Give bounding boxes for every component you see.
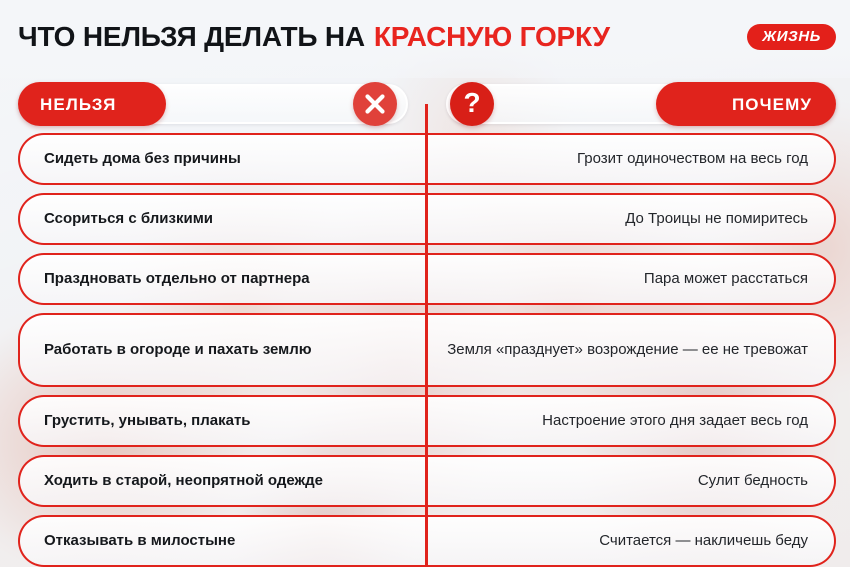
prohibition-cell: Отказывать в милостыне xyxy=(18,515,428,567)
prohibition-text: Праздновать отдельно от партнера xyxy=(44,270,310,288)
question-mark-glyph: ? xyxy=(463,89,480,117)
page-title-accent: КРАСНУЮ ГОРКУ xyxy=(374,21,610,53)
reason-cell: Настроение этого дня задает весь год xyxy=(428,395,836,447)
prohibition-text: Ходить в старой, неопрятной одежде xyxy=(44,472,323,490)
reason-cell: До Троицы не помиритесь xyxy=(428,193,836,245)
reason-cell: Пара может расстаться xyxy=(428,253,836,305)
prohibition-text: Ссориться с близкими xyxy=(44,210,213,228)
prohibition-cell: Работать в огороде и пахать землю xyxy=(18,313,428,387)
page-title: ЧТО НЕЛЬЗЯ ДЕЛАТЬ НА КРАСНУЮ ГОРКУ xyxy=(18,21,610,53)
column-header-reason: ПОЧЕМУ xyxy=(656,82,836,126)
prohibition-text: Грустить, унывать, плакать xyxy=(44,412,251,430)
reason-text: Пара может расстаться xyxy=(644,269,808,289)
question-mark-icon: ? xyxy=(450,82,494,126)
column-header-reason-label: ПОЧЕМУ xyxy=(732,96,812,113)
prohibition-cell: Ссориться с близкими xyxy=(18,193,428,245)
column-header-forbidden: НЕЛЬЗЯ xyxy=(18,82,166,126)
prohibition-cell: Ходить в старой, неопрятной одежде xyxy=(18,455,428,507)
infographic-sheet: ЧТО НЕЛЬЗЯ ДЕЛАТЬ НА КРАСНУЮ ГОРКУ ЖИЗНЬ… xyxy=(0,0,850,567)
reason-text: Считается — накличешь беду xyxy=(599,531,808,551)
reason-text: Земля «празднует» возрождение — ее не тр… xyxy=(447,340,808,360)
column-header-forbidden-label: НЕЛЬЗЯ xyxy=(40,96,116,113)
reason-cell: Считается — накличешь беду xyxy=(428,515,836,567)
title-bar: ЧТО НЕЛЬЗЯ ДЕЛАТЬ НА КРАСНУЮ ГОРКУ ЖИЗНЬ xyxy=(18,17,836,57)
brand-logo: ЖИЗНЬ xyxy=(747,24,836,50)
reason-text: Грозит одиночеством на весь год xyxy=(577,149,808,169)
prohibition-cell: Грустить, унывать, плакать xyxy=(18,395,428,447)
page-title-plain: ЧТО НЕЛЬЗЯ ДЕЛАТЬ НА xyxy=(18,21,365,53)
reason-cell: Земля «празднует» возрождение — ее не тр… xyxy=(428,313,836,387)
column-divider xyxy=(425,104,428,567)
prohibition-cell: Сидеть дома без причины xyxy=(18,133,428,185)
prohibition-text: Отказывать в милостыне xyxy=(44,532,235,550)
prohibition-text: Сидеть дома без причины xyxy=(44,150,241,168)
reason-cell: Грозит одиночеством на весь год xyxy=(428,133,836,185)
reason-cell: Сулит бедность xyxy=(428,455,836,507)
prohibition-text: Работать в огороде и пахать землю xyxy=(44,341,312,359)
reason-text: До Троицы не помиритесь xyxy=(625,209,808,229)
prohibition-cell: Праздновать отдельно от партнера xyxy=(18,253,428,305)
cross-icon xyxy=(353,82,397,126)
reason-text: Настроение этого дня задает весь год xyxy=(542,411,808,431)
reason-text: Сулит бедность xyxy=(698,471,808,491)
